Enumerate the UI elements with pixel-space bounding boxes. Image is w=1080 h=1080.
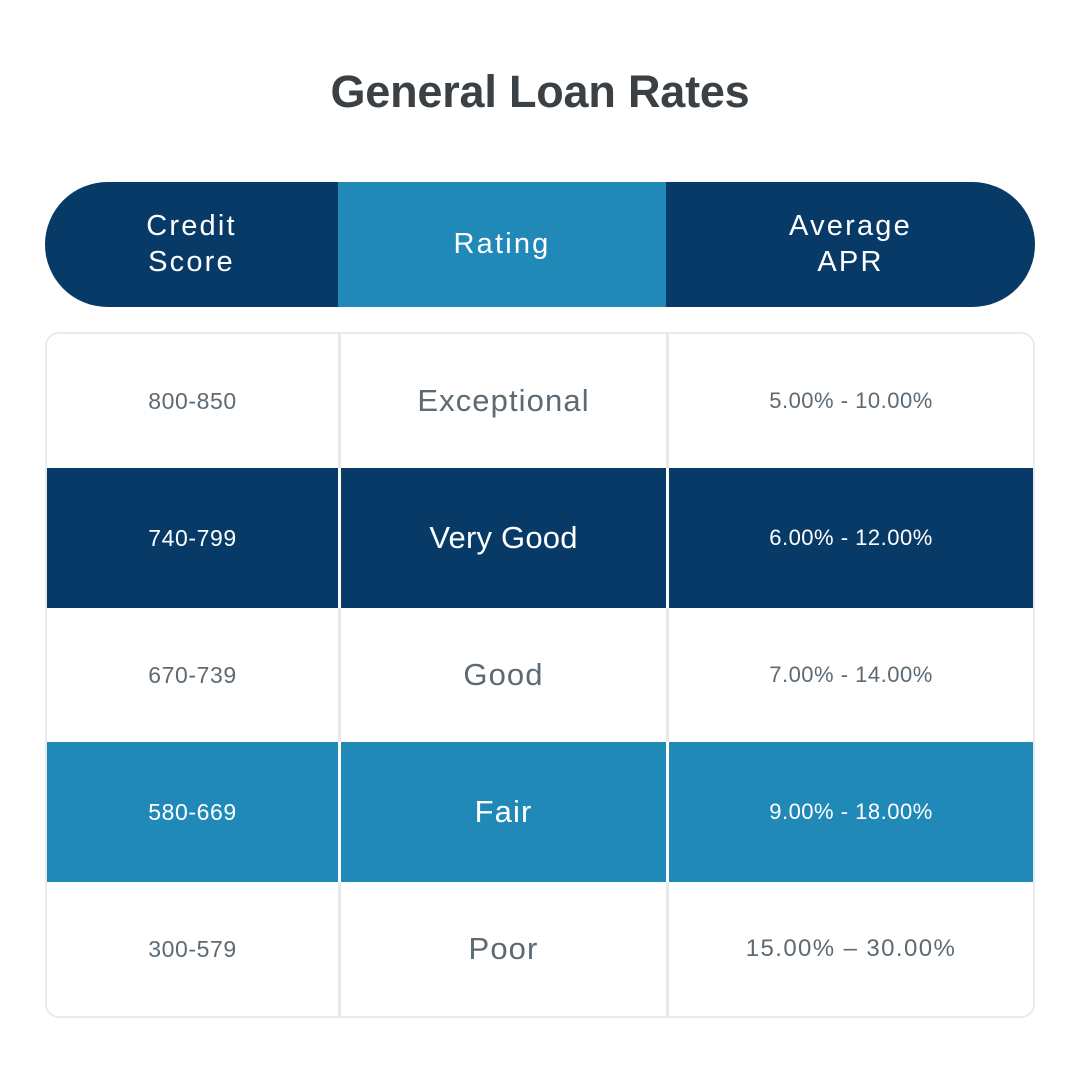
cell-rating: Exceptional	[338, 334, 666, 468]
column-header-credit-score-line1: Credit	[146, 209, 237, 244]
cell-rating: Good	[338, 608, 666, 742]
cell-average-apr-text: 5.00% - 10.00%	[769, 388, 933, 414]
column-header-average-apr-line1: Average	[789, 209, 912, 244]
table-row: 800-850 Exceptional 5.00% - 10.00%	[47, 334, 1033, 468]
cell-average-apr: 7.00% - 14.00%	[666, 608, 1033, 742]
column-header-credit-score-line2: Score	[146, 245, 237, 280]
cell-credit-score: 670-739	[47, 608, 338, 742]
table-row: 300-579 Poor 15.00% – 30.00%	[47, 882, 1033, 1016]
column-header-average-apr: Average APR	[666, 182, 1035, 307]
cell-credit-score-text: 670-739	[148, 662, 237, 689]
cell-credit-score-text: 740-799	[148, 525, 237, 552]
table-row: 740-799 Very Good 6.00% - 12.00%	[47, 468, 1033, 608]
table-header-row: Credit Score Rating Average APR	[45, 182, 1035, 307]
cell-credit-score: 580-669	[47, 742, 338, 882]
table-row: 670-739 Good 7.00% - 14.00%	[47, 608, 1033, 742]
cell-credit-score: 740-799	[47, 468, 338, 608]
cell-average-apr: 15.00% – 30.00%	[666, 882, 1033, 1016]
loan-rates-table: Credit Score Rating Average APR 80	[45, 182, 1035, 1018]
table-body: 800-850 Exceptional 5.00% - 10.00% 740-7…	[45, 332, 1035, 1018]
loan-rates-infographic: General Loan Rates Credit Score Rating A…	[0, 0, 1080, 1080]
cell-average-apr: 6.00% - 12.00%	[666, 468, 1033, 608]
cell-rating: Poor	[338, 882, 666, 1016]
column-header-average-apr-line2: APR	[789, 245, 912, 280]
cell-rating: Very Good	[338, 468, 666, 608]
cell-credit-score: 300-579	[47, 882, 338, 1016]
cell-rating-text: Poor	[469, 931, 539, 967]
column-header-credit-score: Credit Score	[45, 182, 338, 307]
cell-credit-score-text: 300-579	[148, 936, 237, 963]
page-title: General Loan Rates	[0, 66, 1080, 118]
cell-average-apr-text: 9.00% - 18.00%	[769, 799, 933, 825]
cell-average-apr-text: 6.00% - 12.00%	[769, 525, 933, 551]
cell-credit-score-text: 800-850	[148, 388, 237, 415]
cell-credit-score: 800-850	[47, 334, 338, 468]
cell-rating-text: Exceptional	[417, 383, 589, 419]
cell-average-apr-text: 7.00% - 14.00%	[769, 662, 933, 688]
cell-average-apr-text: 15.00% – 30.00%	[746, 935, 956, 963]
cell-average-apr: 9.00% - 18.00%	[666, 742, 1033, 882]
cell-rating-text: Good	[463, 657, 543, 693]
cell-rating: Fair	[338, 742, 666, 882]
column-header-rating: Rating	[338, 182, 666, 307]
table-row: 580-669 Fair 9.00% - 18.00%	[47, 742, 1033, 882]
cell-rating-text: Very Good	[429, 520, 577, 556]
cell-credit-score-text: 580-669	[148, 799, 237, 826]
column-header-rating-line1: Rating	[453, 227, 550, 262]
cell-average-apr: 5.00% - 10.00%	[666, 334, 1033, 468]
cell-rating-text: Fair	[475, 794, 533, 830]
